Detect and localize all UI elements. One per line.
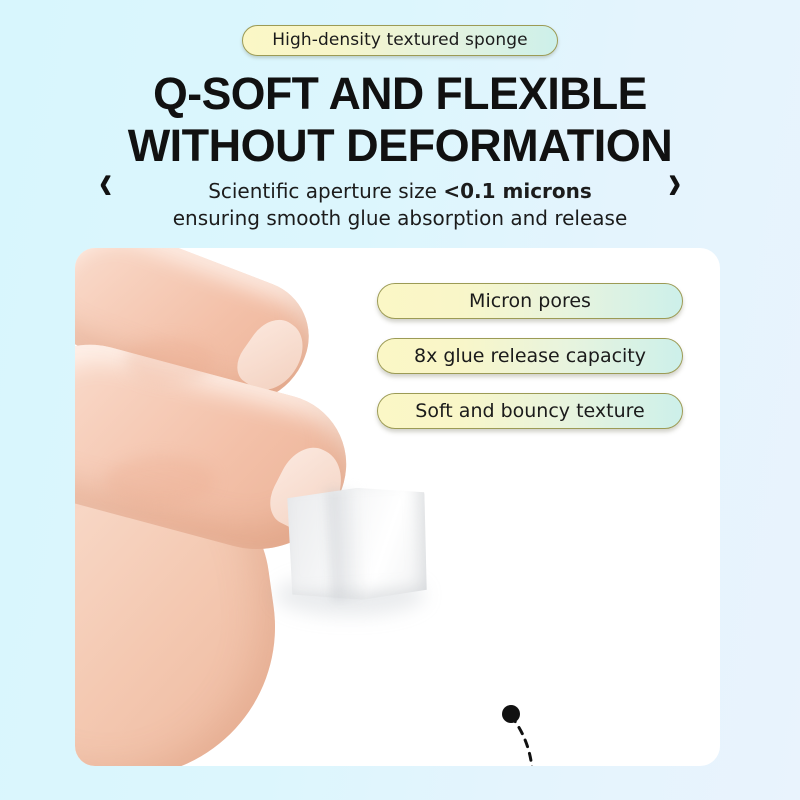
top-badge: High-density textured sponge	[242, 25, 558, 56]
product-banner: High-density textured sponge ‹ › Q-SOFT …	[0, 0, 800, 800]
feature-pill: 8x glue release capacity	[377, 338, 683, 374]
top-badge-label: High-density textured sponge	[272, 32, 527, 49]
subtitle-line-2: ensuring smooth glue absorption and rele…	[0, 205, 800, 232]
dashed-curve-line	[511, 716, 533, 766]
feature-pill-label: Micron pores	[469, 292, 591, 311]
knuckle-crease	[125, 338, 215, 384]
curve-endpoint-top-icon	[502, 705, 520, 723]
headline-line-1: Q-SOFT AND FLEXIBLE	[4, 68, 796, 120]
white-sponge	[284, 484, 430, 603]
subtitle-line-1: Scientific aperture size <0.1 microns	[0, 178, 800, 205]
curve-callout-marker	[489, 700, 559, 766]
feature-pill-label: Soft and bouncy texture	[415, 402, 644, 421]
feature-pill: Soft and bouncy texture	[377, 393, 683, 429]
subtitle-emphasis: <0.1 microns	[443, 179, 591, 203]
headline-row: ‹ › Q-SOFT AND FLEXIBLE WITHOUT DEFORMAT…	[0, 68, 800, 178]
feature-pill-label: 8x glue release capacity	[414, 347, 646, 366]
headline-line-2: WITHOUT DEFORMATION	[0, 120, 800, 172]
sponge-compression-crease	[326, 488, 366, 602]
knuckle-crease	[105, 456, 215, 506]
subtitle: Scientific aperture size <0.1 microns en…	[0, 178, 800, 232]
subtitle-prefix: Scientific aperture size	[208, 179, 443, 203]
feature-pill: Micron pores	[377, 283, 683, 319]
feature-pill-list: Micron pores 8x glue release capacity So…	[377, 283, 687, 448]
page-title: Q-SOFT AND FLEXIBLE WITHOUT DEFORMATION	[0, 68, 800, 172]
